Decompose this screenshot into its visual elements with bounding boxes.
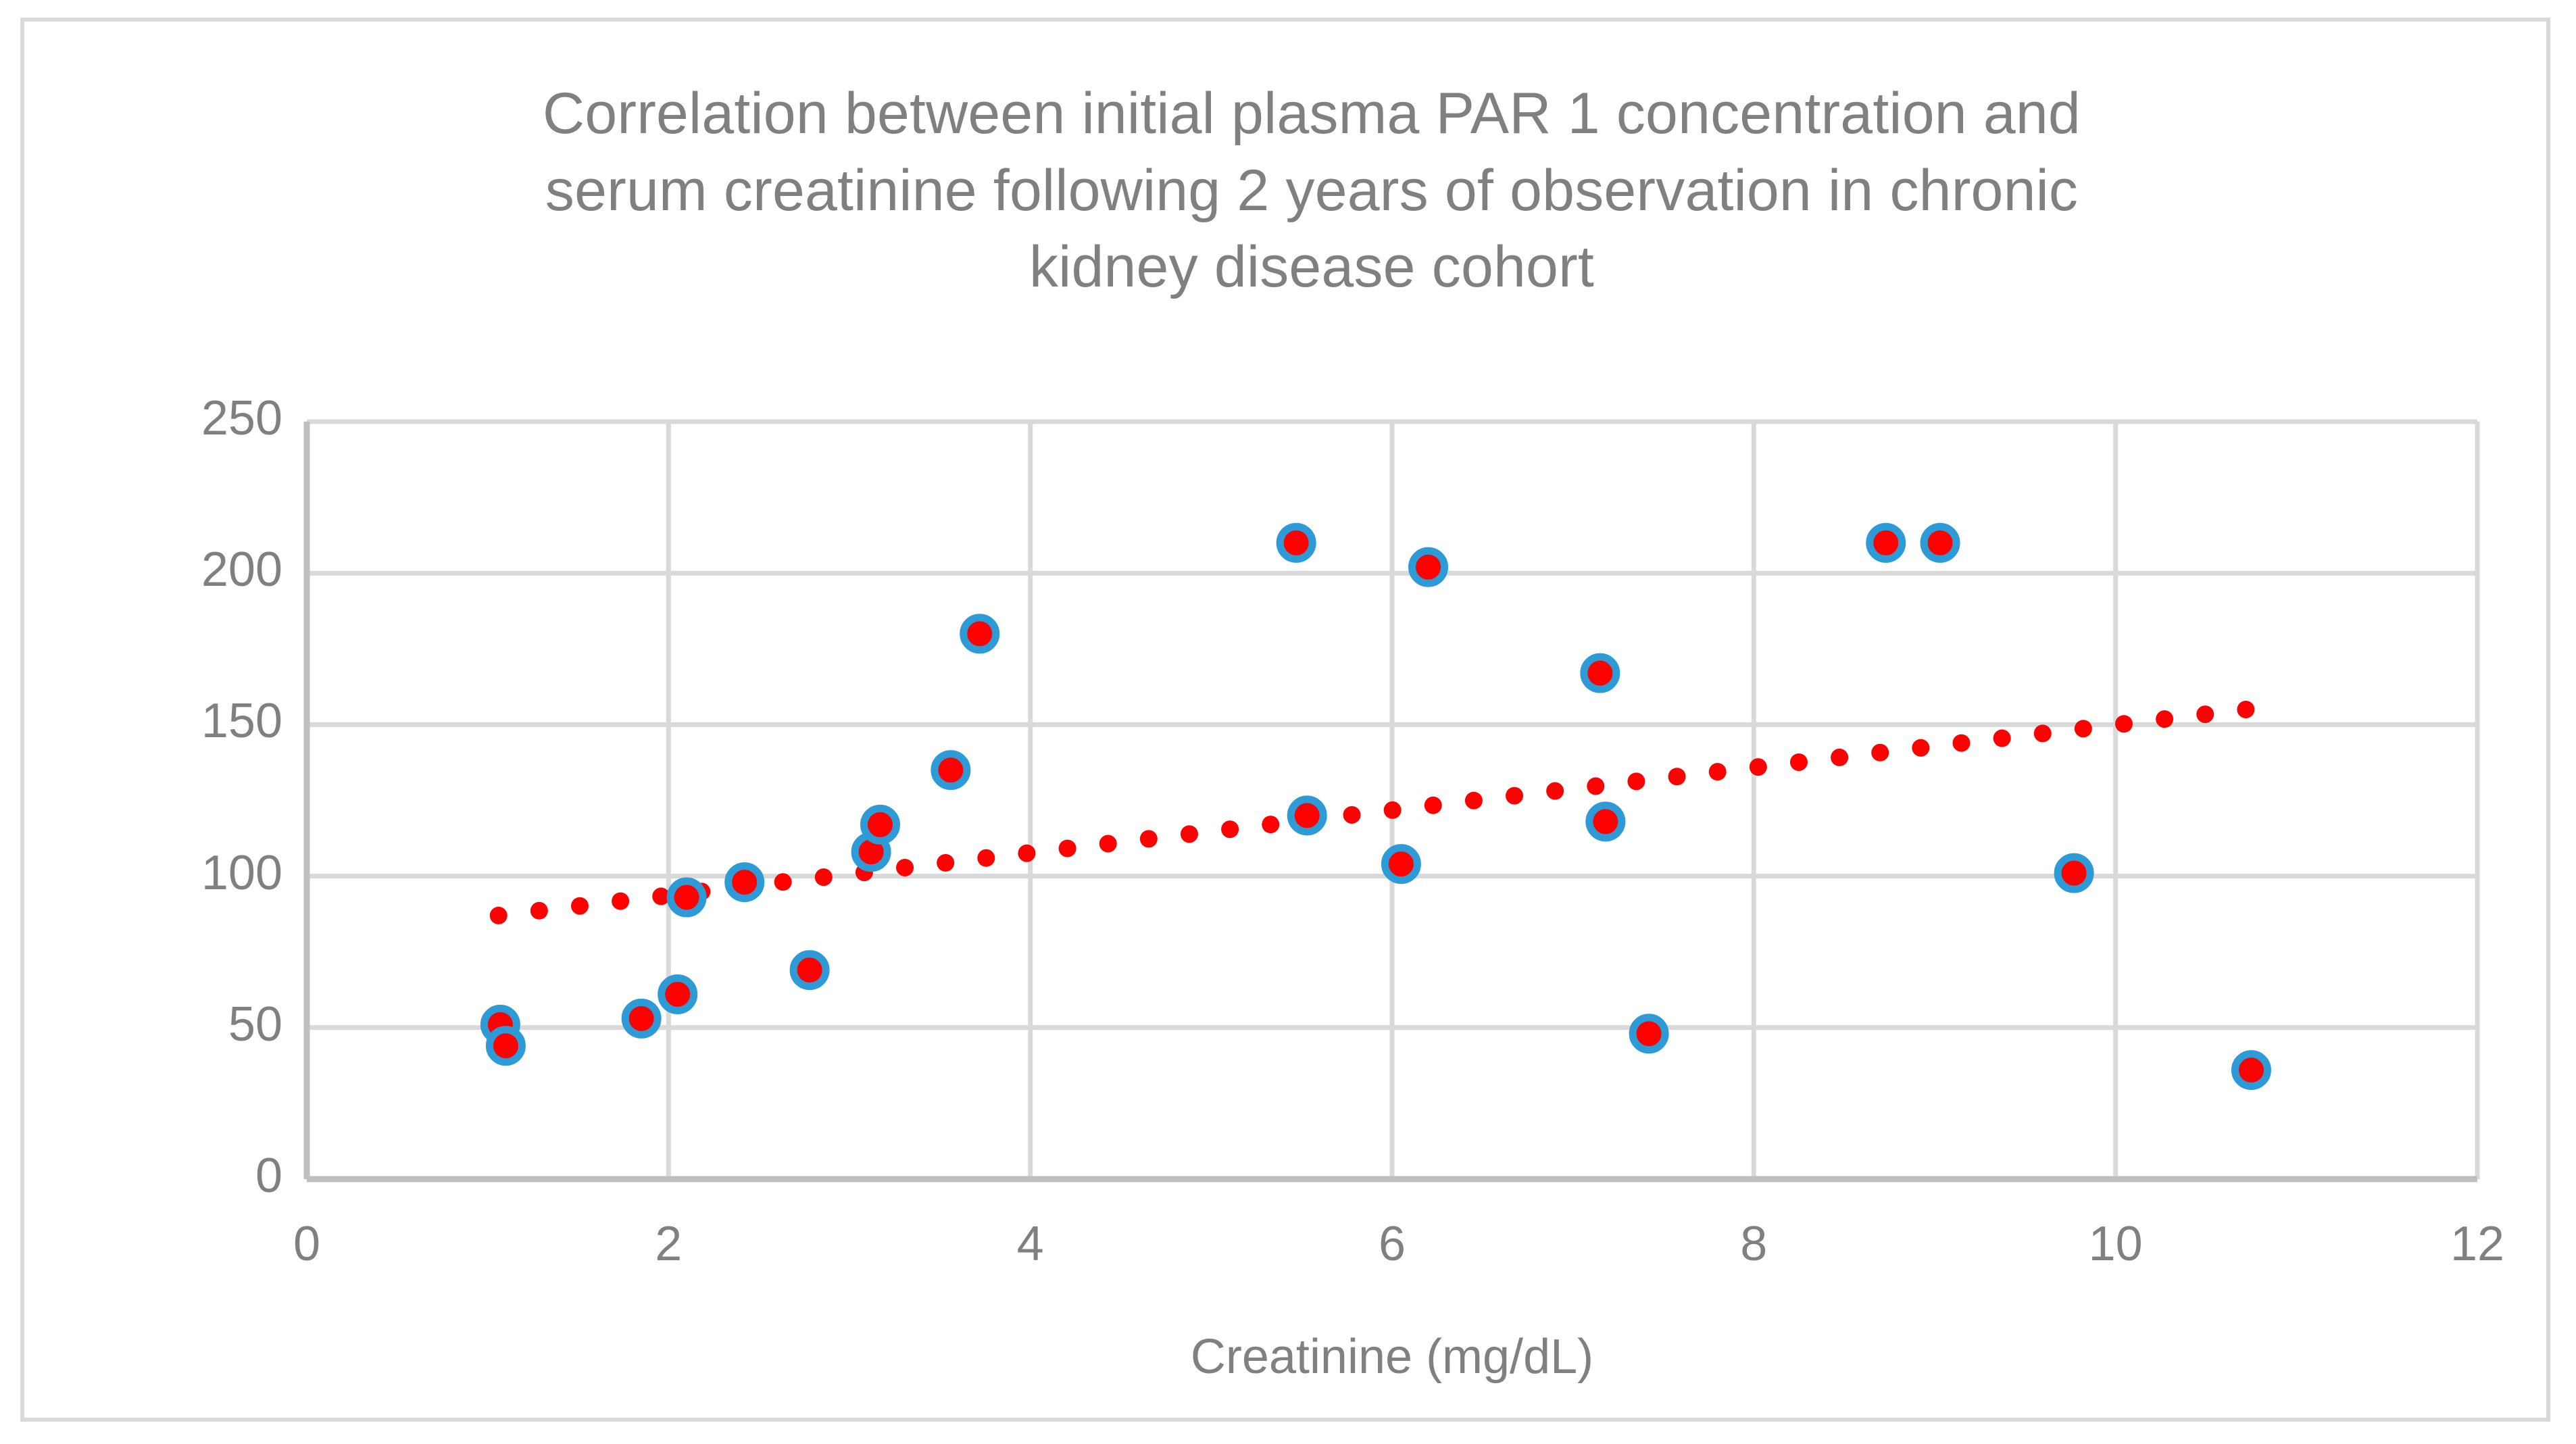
trendline-dot [1668,768,1686,785]
trendline-dot [1099,835,1117,853]
trendline-dot [937,854,954,872]
data-point [670,881,703,914]
y-tick-label-200: 200 [201,542,282,597]
trendline-dot [612,893,629,910]
data-point [662,978,694,1010]
y-tick-label-150: 150 [201,693,282,749]
data-point [1291,799,1323,832]
x-tick-label-8: 8 [1686,1216,1821,1272]
data-point [1924,526,1956,559]
x-tick-label-12: 12 [2410,1216,2545,1272]
data-point [1589,805,1622,838]
gridlines [307,422,2477,1179]
trendline-dot [2075,720,2092,737]
data-point [2058,857,2090,889]
trendline-dot [1587,777,1604,795]
x-tick-label-2: 2 [601,1216,736,1272]
data-point [2235,1054,2267,1087]
trendline-dot [2156,710,2173,728]
trendline-dot [1059,840,1076,857]
y-tick-label-100: 100 [201,845,282,901]
trendline-dot [1262,816,1279,833]
trendline-dot [490,907,507,924]
data-point [1584,657,1616,689]
data-point [1385,848,1417,880]
chart-frame: Correlation between initial plasma PAR 1… [20,18,2550,1422]
trendline-dot [1790,753,1808,771]
trendline-dot [1627,772,1645,790]
data-point [864,808,897,841]
trendline-dot [1831,749,1848,766]
trendline-dot [774,873,792,891]
trendline-dot [2115,715,2133,732]
trendline-dot [1952,735,1970,752]
data-point [625,1002,658,1035]
y-tick-label-0: 0 [255,1148,282,1203]
trendline-dot [1871,744,1889,762]
trendline-dot [571,897,589,915]
trendline-dot [530,902,548,920]
plot-area [307,422,2477,1179]
trendline-dot [1221,820,1239,838]
data-point [1412,551,1445,583]
trendline-dot [815,868,833,886]
plot-wrapper: PAR 1 concentration (pg/mL) Creatinine (… [24,22,2554,1426]
x-tick-label-6: 6 [1324,1216,1460,1272]
data-point [489,1030,522,1062]
x-axis-title: Creatinine (mg/dL) [307,1329,2477,1385]
trendline-dot [1181,825,1198,843]
x-tick-label-10: 10 [2048,1216,2183,1272]
y-tick-label-250: 250 [201,391,282,446]
y-tick-label-50: 50 [228,997,282,1052]
data-point [1280,526,1312,559]
x-tick-label-4: 4 [963,1216,1098,1272]
data-point-markers [484,526,2267,1086]
trendline-dot [1993,730,2011,747]
data-point [1633,1018,1665,1050]
data-point [964,618,996,650]
trendline-dot [1506,787,1523,805]
trendline-dot [2034,724,2052,742]
x-tick-label-0: 0 [239,1216,374,1272]
trendline-dot [1750,758,1767,776]
trendline-dot [1912,739,1929,757]
trendline-dot [1425,797,1442,814]
data-point [728,866,761,899]
scatter-plot-canvas [307,422,2477,1179]
trendline-dot [1465,792,1483,810]
data-point [1870,526,1902,559]
data-point [793,954,826,987]
trendline-dot [2196,705,2214,723]
trendline-dot [2237,701,2254,718]
trendline-dot [1384,801,1402,819]
trendline-dot [1709,763,1727,780]
trendline-dot [1018,845,1035,862]
trendline-dot [1140,830,1158,847]
trendline-dot [1546,782,1564,800]
trendline-dot [977,849,995,867]
trendline-dot [1343,806,1360,824]
data-point [935,754,967,787]
trendline-dot [896,859,914,876]
